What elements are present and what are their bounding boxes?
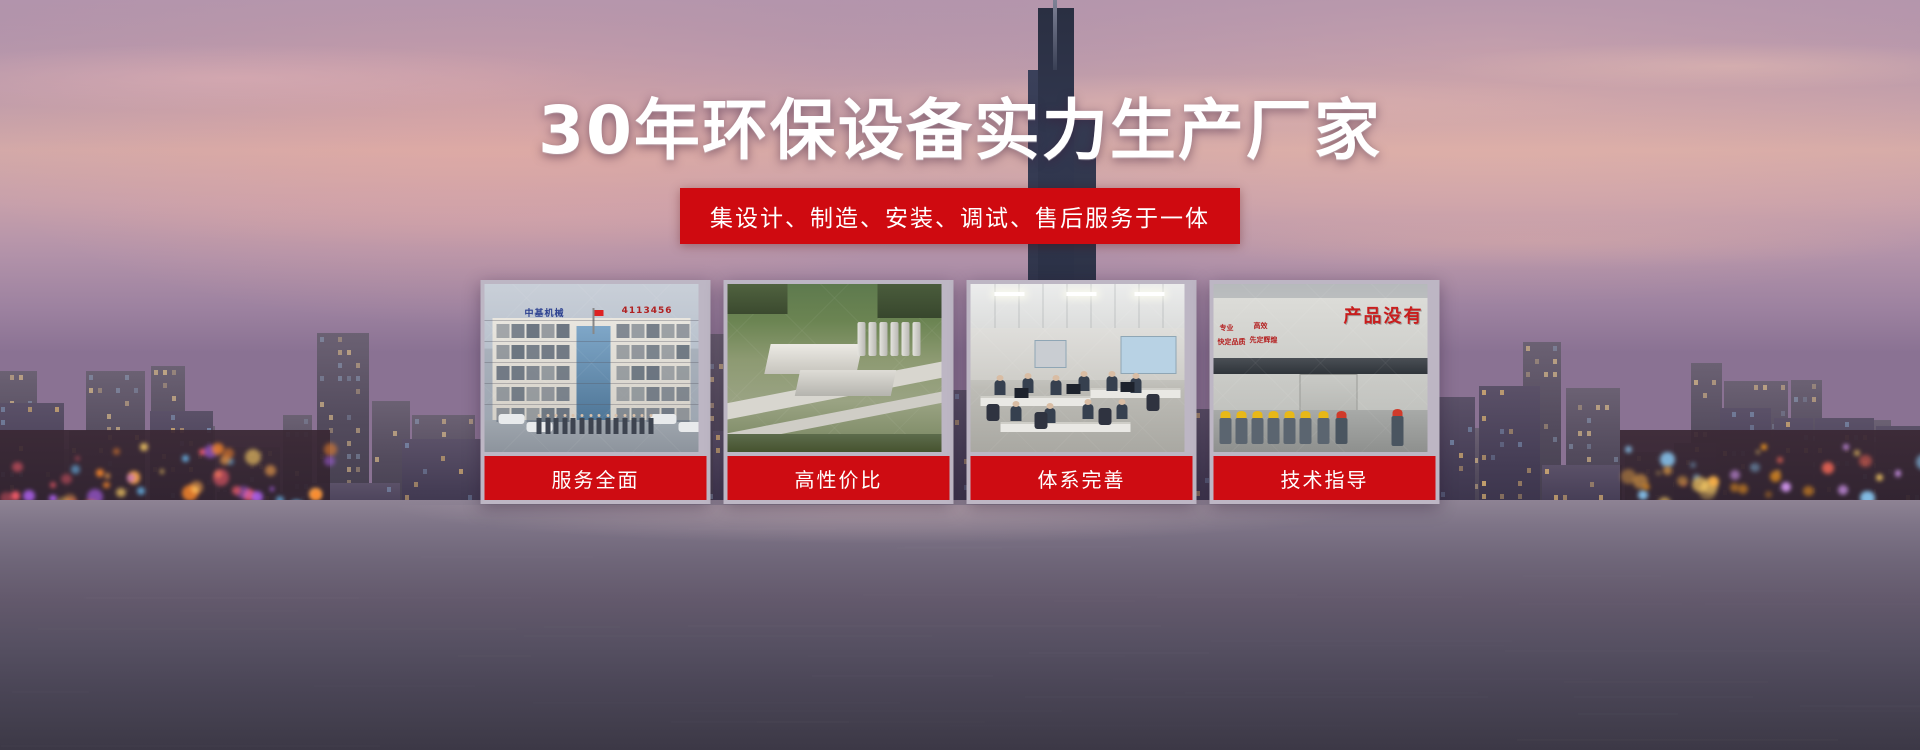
water-reflection [0, 505, 1920, 585]
card-image-office-building: 中基机械 4113456 [485, 284, 699, 452]
factory-wall-slogan: 产品没有 [1344, 302, 1424, 328]
factory-wall-slogan-small-1: 专业 [1220, 324, 1234, 333]
card-image-office-interior [971, 284, 1185, 452]
feature-card-service[interactable]: 中基机械 4113456 服务全面 [481, 280, 711, 504]
subtitle-banner: 集设计、制造、安装、调试、售后服务于一体 [680, 188, 1240, 244]
feature-card-system[interactable]: 体系完善 [967, 280, 1197, 504]
building-signage: 中基机械 [525, 306, 565, 319]
card-image-factory-workshop: 产品没有 专业 高效 快定品质 先定辉煌 [1214, 284, 1428, 452]
factory-wall-slogan-small-4: 先定辉煌 [1250, 336, 1278, 345]
feature-card-value[interactable]: 高性价比 [724, 280, 954, 504]
office-ceiling [971, 284, 1185, 328]
feature-card-list: 中基机械 4113456 服务全面 高性价比 体系完善 [481, 280, 1440, 504]
building-phone-number: 4113456 [622, 306, 673, 316]
card-image-aerial-plant [728, 284, 942, 452]
card-caption: 服务全面 [485, 456, 707, 500]
tower-spire [1053, 0, 1057, 70]
factory-wall-slogan-small-3: 快定品质 [1218, 338, 1246, 347]
card-caption: 高性价比 [728, 456, 950, 500]
feature-card-guidance[interactable]: 产品没有 专业 高效 快定品质 先定辉煌 技术指导 [1210, 280, 1440, 504]
factory-wall-slogan-small-2: 高效 [1254, 322, 1268, 331]
flag-pole [593, 308, 595, 334]
factory-window-band [1214, 358, 1428, 374]
card-caption: 体系完善 [971, 456, 1193, 500]
hero-banner: 30年环保设备实力生产厂家 集设计、制造、安装、调试、售后服务于一体 中基机械 … [0, 0, 1920, 750]
card-caption: 技术指导 [1214, 456, 1436, 500]
page-title: 30年环保设备实力生产厂家 [0, 98, 1920, 164]
